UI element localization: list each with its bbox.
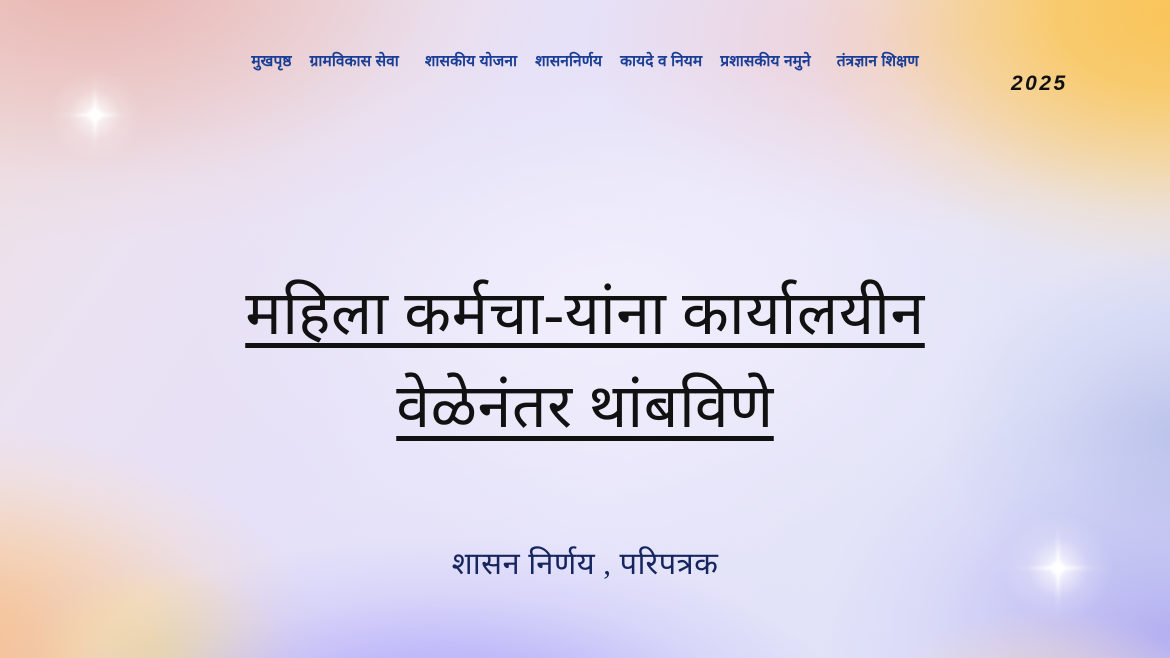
nav-item-prashaskiya-namune[interactable]: प्रशासकीय नमुने: [711, 52, 819, 71]
page-title-line-2: वेळेनंतर थांबविणे: [0, 362, 1170, 455]
page-title-line-1: महिला कर्मचा-यांना कार्यालयीन: [0, 269, 1170, 362]
sparkle-star-icon: [43, 63, 147, 167]
page-title-line-1-text: महिला कर्मचा-यांना कार्यालयीन: [245, 281, 925, 348]
year-badge: 2025: [1011, 72, 1068, 96]
page-subtitle: शासन निर्णय , परिपत्रक: [0, 542, 1170, 584]
nav-item-shaskiya-yojana[interactable]: शासकीय योजना: [408, 52, 526, 71]
nav-item-kayde-va-niyam[interactable]: कायदे व नियम: [611, 52, 711, 71]
top-navigation-bar: मुखपृष्ठ ग्रामविकास सेवा शासकीय योजना शा…: [0, 52, 1170, 71]
nav-item-mukhaprushtha[interactable]: मुखपृष्ठ: [242, 52, 300, 71]
presentation-slide: मुखपृष्ठ ग्रामविकास सेवा शासकीय योजना शा…: [0, 0, 1170, 658]
nav-item-gramvikas-seva[interactable]: ग्रामविकास सेवा: [301, 52, 408, 71]
page-title-line-2-text: वेळेनंतर थांबविणे: [396, 374, 774, 441]
nav-item-tantradnyan-shikshan[interactable]: तंत्रज्ञान शिक्षण: [820, 52, 928, 71]
nav-item-shasan-nirnay[interactable]: शासननिर्णय: [526, 52, 611, 71]
page-title: महिला कर्मचा-यांना कार्यालयीन वेळेनंतर थ…: [0, 269, 1170, 454]
